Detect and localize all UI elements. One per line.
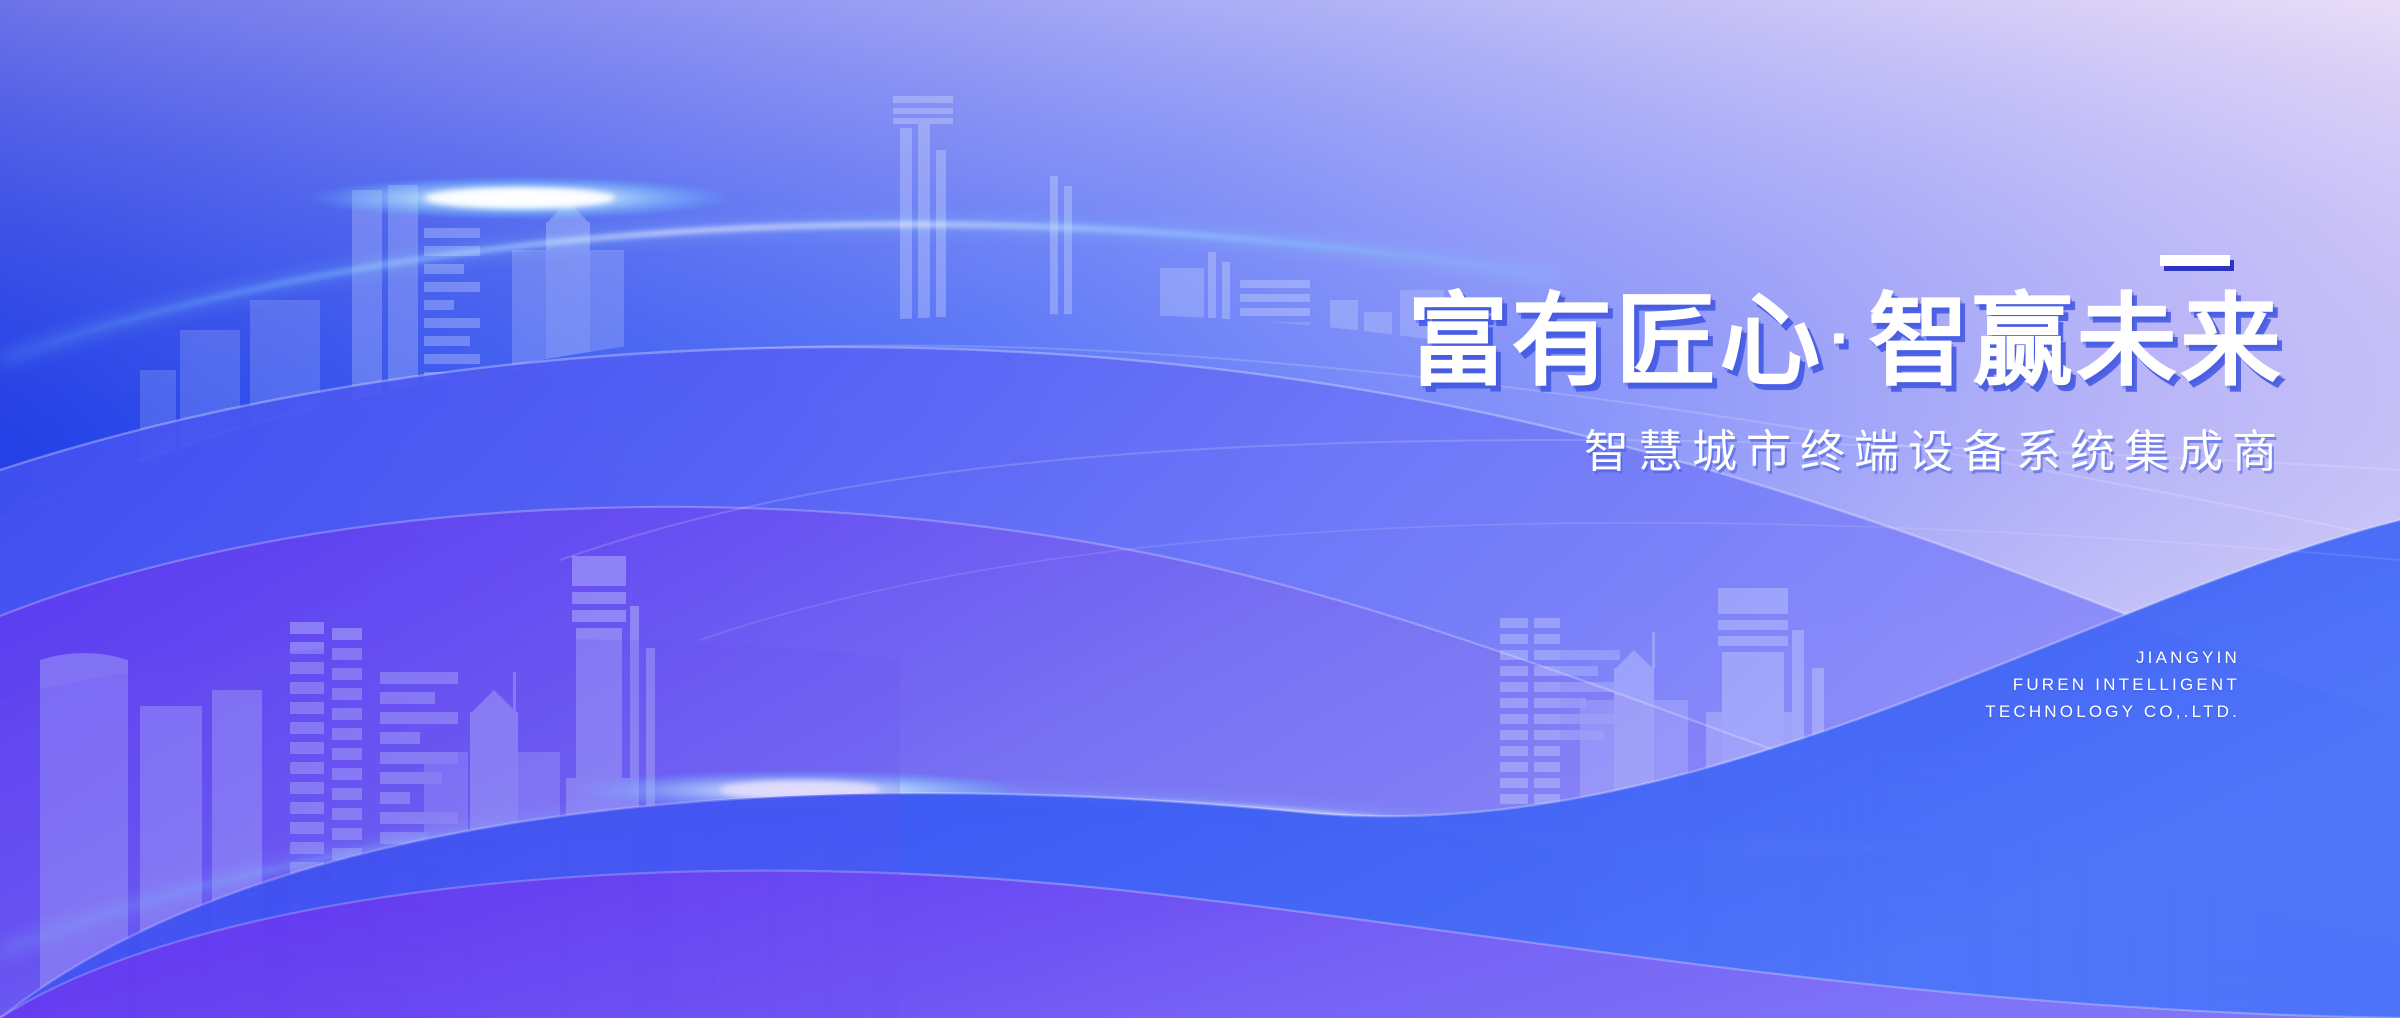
- company-line-2: FUREN INTELLIGENT: [1985, 672, 2240, 699]
- background-artwork: [0, 0, 2400, 1018]
- page-title-right: 智赢未来: [1868, 286, 2284, 398]
- page-title: 富有匠心·智赢未来: [1040, 288, 2290, 397]
- marketing-banner: 富有匠心·智赢未来 智慧城市终端设备系统集成商 JIANGYIN FUREN I…: [0, 0, 2400, 1018]
- company-line-3: TECHNOLOGY CO,.LTD.: [1985, 699, 2240, 726]
- company-line-1: JIANGYIN: [1985, 645, 2240, 672]
- headline-block: 富有匠心·智赢未来 智慧城市终端设备系统集成商: [1040, 255, 2290, 480]
- decor-dash-row: [1040, 255, 2290, 266]
- page-subtitle: 智慧城市终端设备系统集成商: [1040, 415, 2290, 480]
- page-title-separator: ·: [1823, 300, 1868, 376]
- bottom-left-tint: [0, 639, 900, 1018]
- page-title-left: 富有匠心: [1407, 286, 1823, 398]
- company-name-block: JIANGYIN FUREN INTELLIGENT TECHNOLOGY CO…: [1985, 645, 2240, 726]
- decor-dash-icon: [2160, 255, 2230, 266]
